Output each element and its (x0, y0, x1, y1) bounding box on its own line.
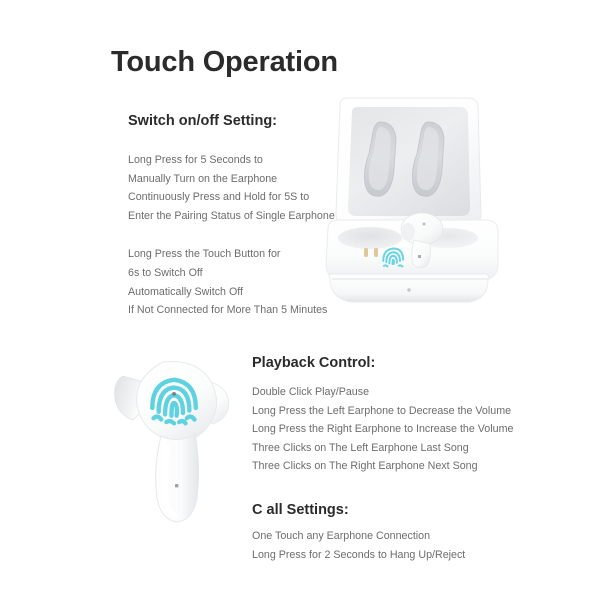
playback-line: Three Clicks on The Left Earphone Last S… (252, 439, 527, 458)
playback-line: Double Click Play/Pause (252, 383, 527, 402)
switch-line: Automatically Switch Off (128, 283, 338, 302)
switch-line: Enter the Pairing Status of Single Earph… (128, 207, 338, 226)
charging-case-photo (318, 96, 508, 321)
switch-line: If Not Connected for More Than 5 Minutes (128, 301, 338, 320)
switch-line: Manually Turn on the Earphone (128, 170, 338, 189)
switch-line: Continuously Press and Hold for 5S to (128, 188, 338, 207)
playback-line: Long Press the Left Earphone to Decrease… (252, 402, 527, 421)
switch-setting-block-2: Long Press the Touch Button for 6s to Sw… (128, 245, 338, 319)
playback-line: Long Press the Right Earphone to Increas… (252, 420, 527, 439)
call-line: One Touch any Earphone Connection (252, 527, 527, 546)
charging-pin-right (374, 248, 378, 257)
case-base-lower (329, 274, 489, 302)
earphone-sensor-dot (172, 392, 176, 396)
charging-pin-left (364, 248, 368, 257)
switch-setting-section: Switch on/off Setting: Long Press for 5 … (128, 113, 338, 320)
switch-line: Long Press for 5 Seconds to (128, 151, 338, 170)
switch-line: Long Press the Touch Button for (128, 245, 338, 264)
switch-setting-heading: Switch on/off Setting: (128, 113, 338, 129)
page-title: Touch Operation (111, 46, 338, 79)
switch-setting-block-1: Long Press for 5 Seconds to Manually Tur… (128, 151, 338, 225)
touch-operation-page: Touch Operation Switch on/off Setting: L… (0, 0, 600, 600)
case-led-indicator (407, 288, 410, 291)
earphone-stem (156, 434, 199, 522)
earphone-in-case-mic-dot (423, 223, 426, 226)
playback-control-heading: Playback Control: (252, 355, 527, 371)
call-settings-section: C all Settings: One Touch any Earphone C… (252, 502, 527, 564)
charging-case-illustration (318, 96, 508, 321)
call-settings-heading: C all Settings: (252, 502, 527, 518)
earphone-mic-dot (175, 484, 178, 487)
playback-line: Three Clicks on The Right Earphone Next … (252, 457, 527, 476)
earphone-head (137, 362, 217, 442)
call-line: Long Press for 2 Seconds to Hang Up/Reje… (252, 546, 527, 565)
earphone-illustration (105, 348, 255, 533)
earphone-photo (105, 348, 255, 533)
earphone-in-case-tip (401, 223, 415, 241)
case-well-left (338, 227, 402, 249)
switch-line: 6s to Switch Off (128, 264, 338, 283)
earphone-in-case-stem (412, 240, 431, 268)
earphone-in-case-contact (418, 255, 421, 258)
playback-control-section: Playback Control: Double Click Play/Paus… (252, 355, 527, 564)
